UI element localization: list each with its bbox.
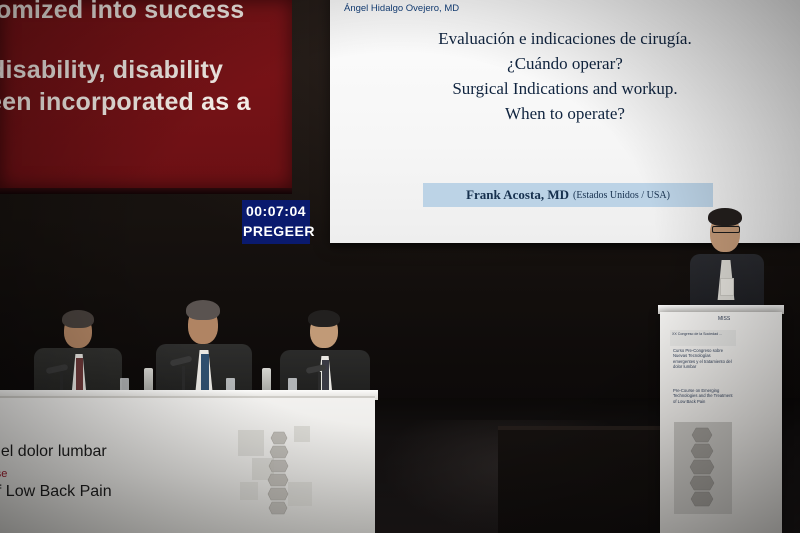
- slide-speaker-band: Frank Acosta, MD (Estados Unidos / USA): [423, 183, 713, 207]
- podium-spine-illustration: [674, 422, 732, 514]
- slide-speaker-name: Frank Acosta, MD: [466, 187, 569, 203]
- photo-stage: omized into success disability, disabili…: [0, 0, 800, 533]
- table-banner-line-es: del dolor lumbar: [0, 443, 107, 461]
- left-slide-line-3: een incorporated as a: [0, 88, 251, 117]
- slide-title-line-3: Surgical Indications and workup.: [330, 76, 800, 101]
- podium-banner-header: XX Congreso de la Sociedad ...: [670, 330, 736, 346]
- panelist-center: [156, 300, 256, 404]
- speaker-glasses-icon: [712, 226, 740, 233]
- left-slide-line-1: omized into success: [0, 0, 244, 25]
- countdown-timer-display: 00:07:04 PREGEER: [242, 200, 310, 244]
- speaker-badge-lanyard: [720, 278, 734, 296]
- podium-banner-text-en: Pre-Course on Emerging Technologies and …: [670, 388, 736, 404]
- timer-time: 00:07:04: [243, 201, 309, 221]
- speaker-at-podium: [688, 208, 768, 320]
- panelist-right-hair: [308, 310, 340, 327]
- speaker-hair: [708, 208, 742, 226]
- slide-title-line-4: When to operate?: [330, 101, 800, 126]
- slide-speaker-origin: (Estados Unidos / USA): [573, 190, 670, 201]
- timer-label: PREGEER: [243, 221, 309, 241]
- left-slide-bottom-edge: [0, 188, 292, 194]
- table-banner-line-en: of Low Back Pain: [0, 483, 112, 501]
- table-banner-line-course: urse: [0, 468, 7, 480]
- slide-title-block: Evaluación e indicaciones de cirugía. ¿C…: [330, 26, 800, 126]
- left-projection-slide: omized into success disability, disabili…: [0, 0, 292, 188]
- spine-illustration-table: [258, 430, 298, 516]
- podium-banner-text-es: Curso Pre-Congreso sobre Nuevas Tecnolog…: [670, 348, 736, 370]
- slide-title-line-1: Evaluación e indicaciones de cirugía.: [330, 26, 800, 51]
- slide-author-block: Raymond Hah, MD Ángel Hidalgo Ovejero, M…: [344, 0, 704, 15]
- panelist-center-tie: [201, 354, 209, 390]
- panelist-center-hair: [186, 300, 220, 320]
- podium-logo-text: MISS: [718, 316, 748, 325]
- left-slide-line-2: disability, disability: [0, 56, 223, 85]
- right-projection-slide: Raymond Hah, MD Ángel Hidalgo Ovejero, M…: [330, 0, 800, 243]
- slide-author-2: Ángel Hidalgo Ovejero, MD: [344, 3, 704, 16]
- panelist-left-hair: [62, 310, 94, 328]
- slide-title-line-2: ¿Cuándo operar?: [330, 51, 800, 76]
- panelist-left-tie: [76, 358, 83, 392]
- podium-banner: XX Congreso de la Sociedad ... Curso Pre…: [670, 330, 736, 520]
- draped-side-table: [498, 430, 673, 533]
- logo-square-3: [240, 482, 258, 500]
